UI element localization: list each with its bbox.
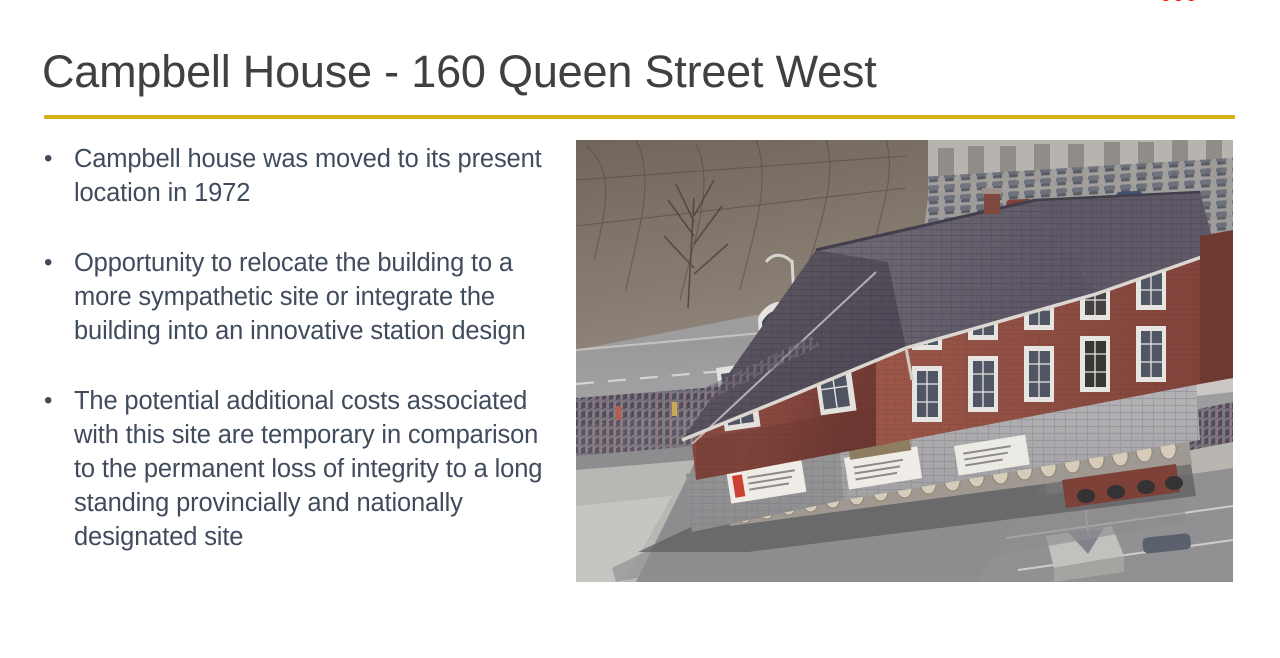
photo-illustration (576, 140, 1233, 582)
list-item: • The potential additional costs associa… (40, 384, 560, 554)
bullet-text: The potential additional costs associate… (74, 384, 560, 554)
title-accent-rule (44, 115, 1235, 119)
campbell-house-being-moved-photo (576, 140, 1233, 582)
bullet-list: • Campbell house was moved to its presen… (40, 142, 560, 554)
bullet-dot-icon: • (40, 142, 74, 176)
bullet-dot-icon: • (40, 246, 74, 280)
list-item: • Campbell house was moved to its presen… (40, 142, 560, 210)
bullet-text: Campbell house was moved to its present … (74, 142, 560, 210)
bullet-dot-icon: • (40, 384, 74, 418)
page-title: Campbell House - 160 Queen Street West (42, 44, 1232, 100)
top-red-artifact: 000 (1160, 0, 1220, 6)
bullet-text: Opportunity to relocate the building to … (74, 246, 560, 348)
list-item: • Opportunity to relocate the building t… (40, 246, 560, 348)
